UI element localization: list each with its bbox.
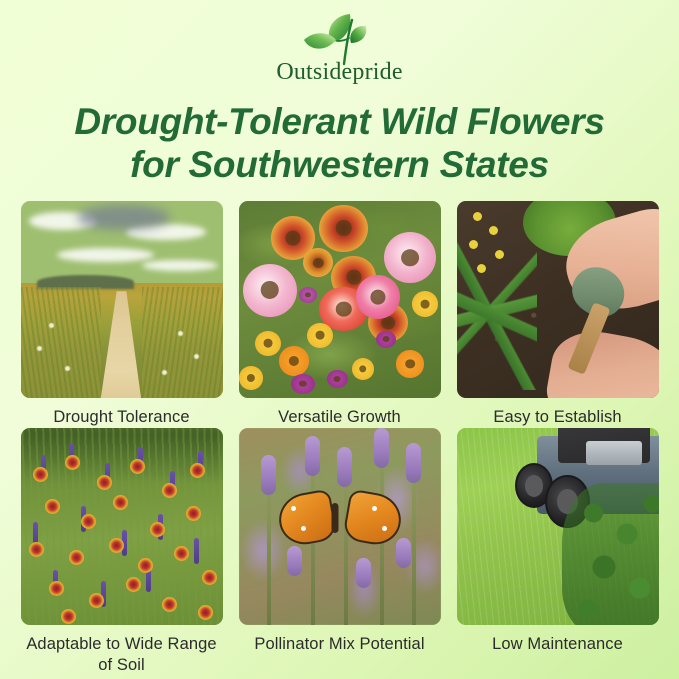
- feature-caption: Low Maintenance: [492, 634, 623, 655]
- feature-cell: Easy to Establish: [457, 201, 659, 428]
- sprout-leaves-icon: [292, 8, 388, 66]
- brand-logo: Outsidepride: [240, 8, 440, 84]
- feature-cell: Drought Tolerance: [21, 201, 223, 428]
- hands-planting-with-trowel-photo: [457, 201, 659, 398]
- feature-caption: Drought Tolerance: [53, 407, 189, 428]
- feature-cell: Low Maintenance: [457, 428, 659, 676]
- mixed-wildflower-bloom-closeup-photo: [239, 201, 441, 398]
- title-line-1: Drought-Tolerant Wild Flowers: [20, 100, 660, 143]
- feature-caption: Easy to Establish: [493, 407, 621, 428]
- blanket-flower-and-salvia-meadow-photo: [21, 428, 223, 625]
- title-line-2: for Southwestern States: [20, 143, 660, 186]
- feature-caption: Adaptable to Wide Range of Soil: [21, 634, 223, 676]
- painted-lady-butterfly-on-lavender-photo: [239, 428, 441, 625]
- feature-grid: Drought Tolerance: [20, 201, 660, 676]
- feature-caption: Pollinator Mix Potential: [254, 634, 424, 655]
- feature-cell: Pollinator Mix Potential: [239, 428, 441, 676]
- feature-cell: Versatile Growth: [239, 201, 441, 428]
- lawn-mower-on-grass-photo: [457, 428, 659, 625]
- infographic-poster: Outsidepride Drought-Tolerant Wild Flowe…: [0, 0, 679, 679]
- feature-cell: Adaptable to Wide Range of Soil: [21, 428, 223, 676]
- sandy-path-through-golden-grassland-photo: [21, 201, 223, 398]
- feature-caption: Versatile Growth: [278, 407, 401, 428]
- page-title: Drought-Tolerant Wild Flowers for Southw…: [20, 100, 660, 187]
